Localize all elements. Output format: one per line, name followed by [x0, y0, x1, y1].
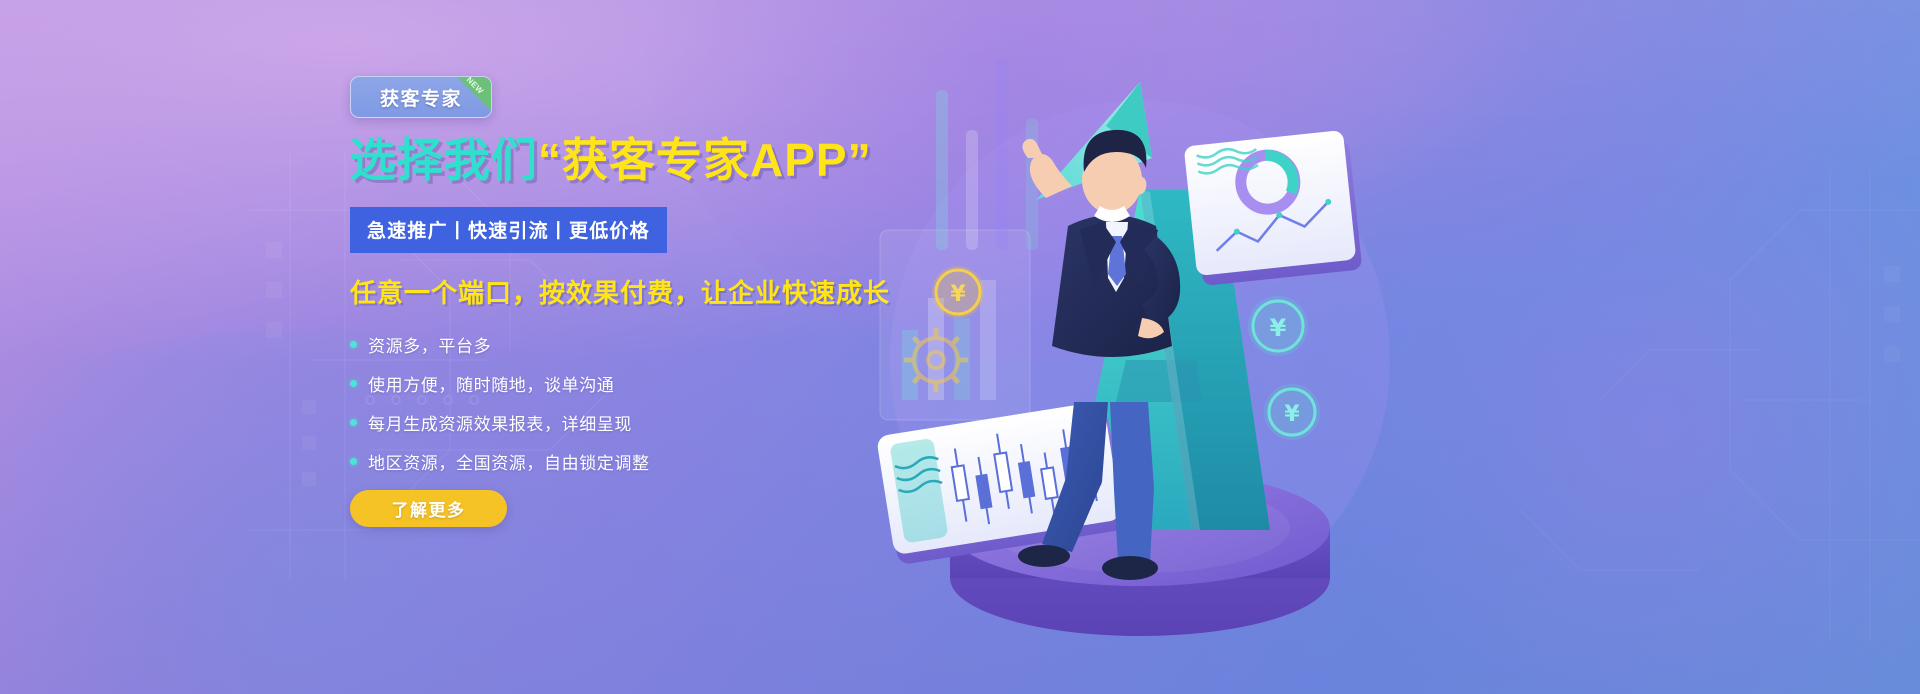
coin-badge-3: ¥	[1264, 384, 1320, 440]
headline-part-primary: 选择我们	[350, 134, 538, 186]
back-chart-panel	[880, 230, 1030, 420]
svg-text:¥: ¥	[950, 282, 966, 307]
feature-strip-label: 急速推广丨快速引流丨更低价格	[367, 221, 650, 242]
coin-badge-1: ¥	[932, 266, 984, 318]
hero-illustration: ¥ ¥ ¥	[840, 30, 1400, 670]
list-item-label: 地区资源，全国资源，自由锁定调整	[368, 449, 650, 474]
product-badge-label: 获客专家	[380, 84, 462, 111]
list-item-label: 每月生成资源效果报表，详细呈现	[368, 410, 632, 435]
product-badge[interactable]: 获客专家 NEW	[350, 76, 490, 116]
donut-chart-card	[1184, 130, 1363, 286]
bullet-dot-icon	[350, 341, 357, 348]
headline-part-accent: “获客专家APP”	[538, 134, 872, 186]
page-title: 选择我们“获客专家APP”	[350, 136, 910, 185]
list-item: 资源多，平台多	[350, 332, 910, 357]
svg-text:¥: ¥	[1270, 314, 1287, 342]
list-item: 使用方便，随时随地，谈单沟通	[350, 371, 910, 396]
learn-more-button-label: 了解更多	[392, 496, 466, 521]
feature-strip: 急速推广丨快速引流丨更低价格	[350, 207, 667, 253]
list-item-label: 使用方便，随时随地，谈单沟通	[368, 371, 614, 396]
bullet-dot-icon	[350, 380, 357, 387]
coin-badge-2: ¥	[1248, 296, 1308, 356]
bullet-dot-icon	[350, 419, 357, 426]
banner-copy: 获客专家 NEW 选择我们“获客专家APP” 急速推广丨快速引流丨更低价格 任意…	[350, 76, 910, 527]
list-item: 地区资源，全国资源，自由锁定调整	[350, 449, 910, 474]
list-item: 每月生成资源效果报表，详细呈现	[350, 410, 910, 435]
illustration-svg: ¥ ¥ ¥	[840, 30, 1400, 670]
learn-more-button[interactable]: 了解更多	[350, 490, 507, 527]
list-item-label: 资源多，平台多	[368, 332, 491, 357]
bullet-dot-icon	[350, 458, 357, 465]
svg-text:¥: ¥	[1284, 402, 1300, 427]
subtitle: 任意一个端口，按效果付费，让企业快速成长	[350, 273, 910, 310]
feature-list: 资源多，平台多 使用方便，随时随地，谈单沟通 每月生成资源效果报表，详细呈现 地…	[350, 332, 910, 474]
promo-banner: 获客专家 NEW 选择我们“获客专家APP” 急速推广丨快速引流丨更低价格 任意…	[0, 0, 1920, 694]
